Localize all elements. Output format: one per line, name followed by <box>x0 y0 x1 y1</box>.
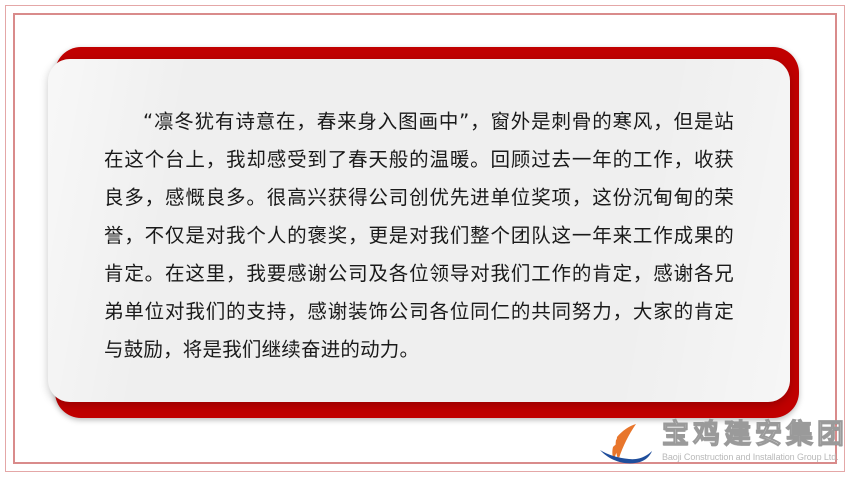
slide-canvas: “凛冬犹有诗意在，春来身入图画中”，窗外是刺骨的寒风，但是站在这个台上，我却感受… <box>0 0 850 477</box>
logo-company-name-en: Baoji Construction and Installation Grou… <box>662 451 848 463</box>
speech-paragraph: “凛冬犹有诗意在，春来身入图画中”，窗外是刺骨的寒风，但是站在这个台上，我却感受… <box>48 59 790 369</box>
logo-wordmark: 宝鸡建安集团 Baoji Construction and Installati… <box>662 420 848 463</box>
content-card: “凛冬犹有诗意在，春来身入图画中”，窗外是刺骨的寒风，但是站在这个台上，我却感受… <box>48 59 790 402</box>
company-logo: 宝鸡建安集团 Baoji Construction and Installati… <box>596 420 846 475</box>
logo-company-name-cn: 宝鸡建安集团 <box>662 420 848 450</box>
sail-and-wave-logo-icon <box>596 422 658 468</box>
